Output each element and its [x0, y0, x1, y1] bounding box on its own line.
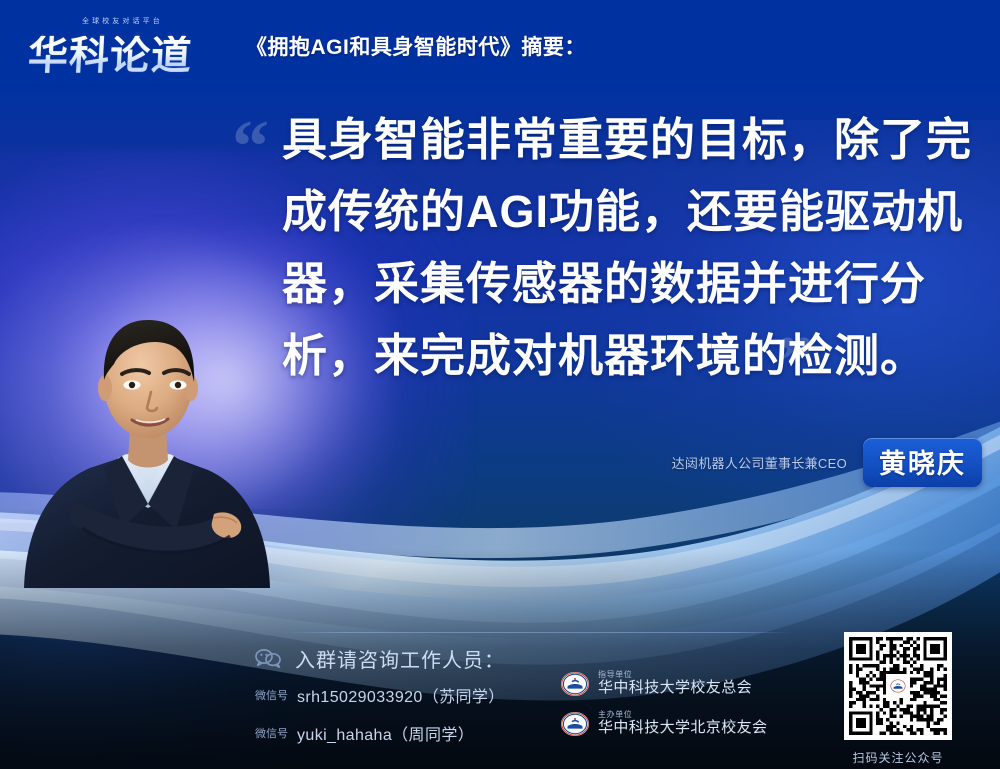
page-title: 《拥抱AGI和具身智能时代》摘要：: [246, 31, 586, 61]
quote-line: 器，采集传感器的数据并进行分: [282, 248, 948, 320]
brand-tagline: 全球校友对话平台: [82, 18, 163, 25]
quote-text: 具身智能非常重要的目标，除了完 成传统的AGI功能，还要能驱动机 器，采集传感器…: [282, 104, 948, 392]
quote-open-mark: “: [232, 110, 269, 184]
wechat-icon: [255, 648, 281, 668]
contact-label: 微信号: [255, 725, 288, 741]
organization-kind: 主办单位: [598, 711, 767, 720]
quote-line: 析，来完成对机器环境的检测。: [282, 320, 948, 392]
speaker-name-badge: 黄晓庆: [863, 438, 982, 487]
contact-label: 微信号: [255, 687, 288, 703]
organization-text: 主办单位 华中科技大学北京校友会: [598, 711, 767, 738]
organization-text: 指导单位 华中科技大学校友总会: [598, 671, 752, 698]
organization-row: 主办单位 华中科技大学北京校友会: [560, 704, 767, 744]
organization-row: 指导单位 华中科技大学校友总会: [560, 664, 767, 704]
speaker-role: 达闼机器人公司董事长兼CEO: [672, 453, 847, 472]
quote-line: 成传统的AGI功能，还要能驱动机: [282, 176, 948, 248]
organization-name: 华中科技大学北京校友会: [598, 719, 767, 737]
header: 全球校友对话平台 华科论道 《拥抱AGI和具身智能时代》摘要：: [0, 0, 1000, 92]
brand-name: 华科论道: [27, 36, 225, 76]
qr-caption: 扫码关注公众号: [838, 749, 958, 766]
contact-value: srh15029033920（苏同学）: [297, 683, 505, 707]
footer-organizations: 指导单位 华中科技大学校友总会 主办单位 华中科技大学北京校友会: [560, 664, 767, 744]
speaker-name: 黄晓庆: [879, 449, 966, 479]
university-emblem-icon: [560, 711, 590, 737]
quote-line: 具身智能非常重要的目标，除了完: [282, 104, 948, 176]
organization-name: 华中科技大学校友总会: [598, 679, 752, 697]
contact-value: yuki_hahaha（周同学）: [297, 721, 474, 745]
poster-canvas: 全球校友对话平台 华科论道 《拥抱AGI和具身智能时代》摘要： “ ” 具身智能…: [0, 0, 1000, 769]
footer-heading: 入群请咨询工作人员：: [295, 644, 505, 673]
qr-code[interactable]: [844, 632, 952, 740]
quote-block: “ ” 具身智能非常重要的目标，除了完 成传统的AGI功能，还要能驱动机 器，采…: [232, 104, 948, 392]
footer-divider: [285, 632, 790, 633]
qr-block: 扫码关注公众号: [838, 632, 958, 766]
brand-logo: 全球校友对话平台 华科论道: [28, 16, 224, 76]
qr-center-emblem-icon: [887, 675, 909, 697]
university-emblem-icon: [560, 671, 590, 697]
attribution: 达闼机器人公司董事长兼CEO 黄晓庆: [672, 438, 982, 487]
organization-kind: 指导单位: [598, 671, 752, 680]
